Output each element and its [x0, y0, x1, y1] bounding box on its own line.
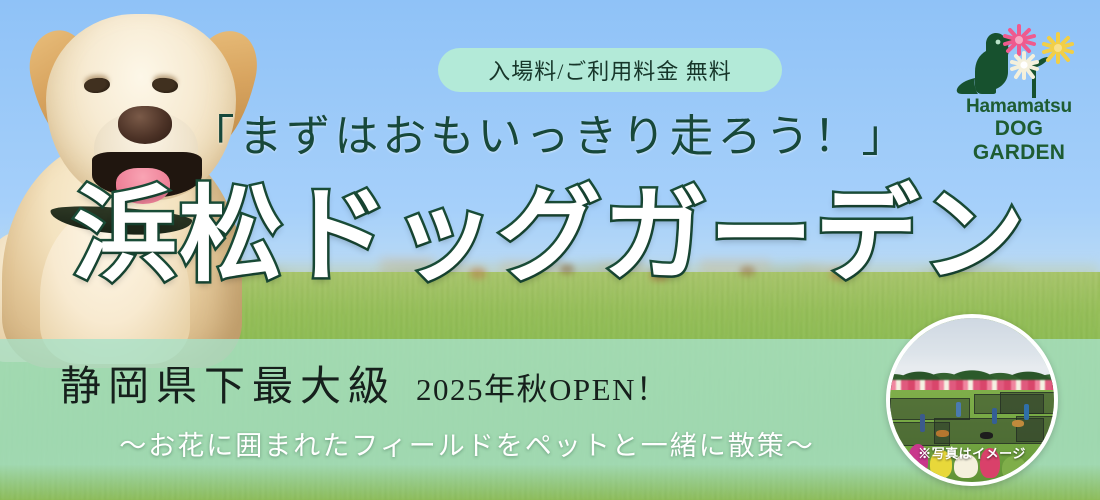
flower-pink-center-icon — [1015, 36, 1023, 44]
promo-banner: 入場料/ご利用料金 無料 「まずはおもいっきり走ろう！」 浜松ドッグガーデン 静… — [0, 0, 1100, 500]
inset-park-photo: ※写真はイメージ — [886, 314, 1058, 486]
catch-copy: 「まずはおもいっきり走ろう！」 — [0, 100, 1100, 164]
dog-silhouette-icon — [957, 33, 1013, 94]
tagline: 〜お花に囲まれたフィールドをペットと一緒に散策〜 — [72, 424, 862, 463]
inset-fence — [1000, 392, 1058, 414]
logo-artwork — [948, 22, 1090, 100]
logo-line2: DOG GARDEN — [948, 117, 1090, 164]
inset-visitor — [992, 408, 997, 424]
flower-yellow-center-icon — [1054, 44, 1062, 52]
inset-visitor — [956, 402, 961, 417]
inset-dog — [1012, 420, 1024, 427]
free-admission-badge: 入場料/ご利用料金 無料 — [438, 48, 782, 92]
inset-photo-caption: ※写真はイメージ — [890, 443, 1054, 462]
page-title: 浜松ドッグガーデン — [0, 182, 1100, 291]
inset-visitor — [1024, 404, 1029, 420]
inset-visitor — [920, 414, 925, 432]
subline-group: 静岡県下最大級 2025年秋OPEN！ — [60, 352, 860, 412]
logo-wordmark: Hamamatsu DOG GARDEN — [948, 96, 1090, 164]
brand-logo[interactable]: Hamamatsu DOG GARDEN — [948, 22, 1090, 140]
open-date-label: 2025年秋OPEN！ — [416, 364, 668, 409]
flower-cream-center-icon — [1020, 61, 1027, 68]
logo-line1: Hamamatsu — [948, 96, 1090, 117]
scale-label: 静岡県下最大級 — [60, 352, 396, 412]
badge-label: 入場料/ご利用料金 無料 — [488, 54, 732, 86]
